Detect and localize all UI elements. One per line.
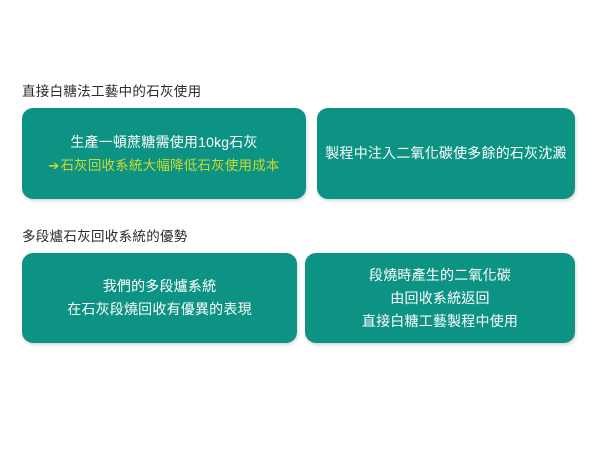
card-co2-return-line-3: 直接白糖工藝製程中使用 xyxy=(362,310,518,333)
card-lime-usage-line-1: 生產一頓蔗糖需使用10kg石灰 xyxy=(70,131,257,154)
card-multi-hearth-line-1: 我們的多段爐系統 xyxy=(103,275,217,298)
section-heading-benefits: 多段爐石灰回收系統的優勢 xyxy=(22,229,600,245)
section-heading-process: 直接白糖法工藝中的石灰使用 xyxy=(22,84,600,100)
card-multi-hearth-line-2: 在石灰段燒回收有優異的表現 xyxy=(67,298,252,321)
section-benefits: 多段爐石灰回收系統的優勢 我們的多段爐系統 在石灰段燒回收有優異的表現 段燒時產… xyxy=(0,229,600,344)
section-process: 直接白糖法工藝中的石灰使用 生產一頓蔗糖需使用10kg石灰 ➔石灰回收系統大幅降… xyxy=(0,84,600,199)
card-lime-usage[interactable]: 生產一頓蔗糖需使用10kg石灰 ➔石灰回收系統大幅降低石灰使用成本 xyxy=(22,108,306,199)
card-lime-usage-line-2-text: 石灰回收系統大幅降低石灰使用成本 xyxy=(60,158,279,173)
card-row-benefits: 我們的多段爐系統 在石灰段燒回收有優異的表現 段燒時產生的二氧化碳 由回收系統返… xyxy=(0,253,600,344)
card-co2-return-line-1: 段燒時產生的二氧化碳 xyxy=(369,264,511,287)
arrow-right-icon: ➔ xyxy=(48,154,59,177)
slide-canvas: 直接白糖法工藝中的石灰使用 生產一頓蔗糖需使用10kg石灰 ➔石灰回收系統大幅降… xyxy=(0,0,600,450)
card-co2-injection[interactable]: 製程中注入二氧化碳使多餘的石灰沈澱 xyxy=(317,108,575,199)
card-co2-injection-line-1: 製程中注入二氧化碳使多餘的石灰沈澱 xyxy=(325,142,566,165)
card-row-process: 生產一頓蔗糖需使用10kg石灰 ➔石灰回收系統大幅降低石灰使用成本 製程中注入二… xyxy=(0,108,600,199)
card-multi-hearth[interactable]: 我們的多段爐系統 在石灰段燒回收有優異的表現 xyxy=(22,253,297,343)
card-co2-return-line-2: 由回收系統返回 xyxy=(390,287,489,310)
card-co2-return[interactable]: 段燒時產生的二氧化碳 由回收系統返回 直接白糖工藝製程中使用 xyxy=(305,253,575,343)
card-lime-usage-line-2: ➔石灰回收系統大幅降低石灰使用成本 xyxy=(48,154,279,177)
